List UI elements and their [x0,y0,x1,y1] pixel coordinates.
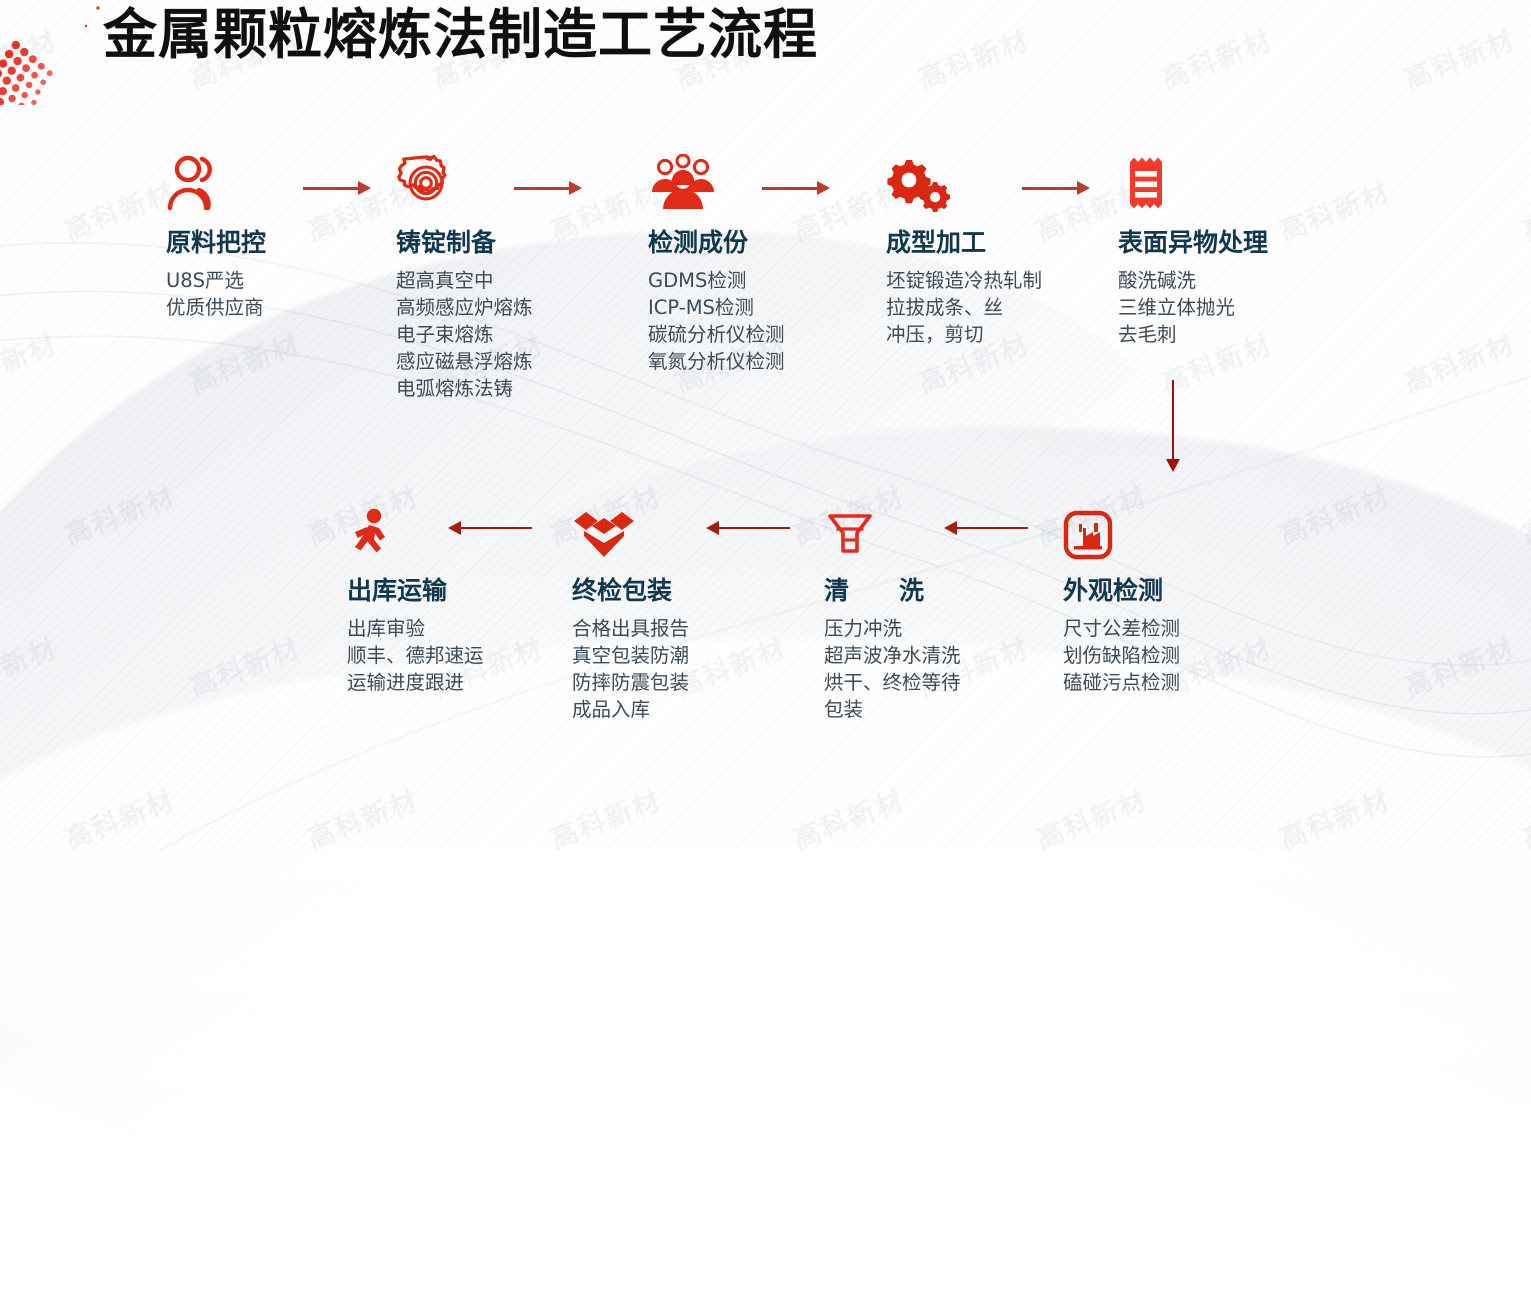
arrow-head [358,181,371,195]
step-detail-line: 防摔防震包装 [572,669,689,696]
arrow-step2-to-step3 [514,182,582,194]
step-detail-line: 出库审验 [347,615,484,642]
gear-rings-icon [396,152,533,212]
step-detail-list: 合格出具报告 真空包装防潮 防摔防震包装 成品入库 [572,615,689,723]
step-detail-line: 氧氮分析仪检测 [648,348,785,375]
step-title: 原料把控 [166,228,266,258]
arrow-head [569,181,582,195]
step-detail-line: 酸洗碱洗 [1118,267,1268,294]
step-title: 出库运输 [347,576,484,606]
flow-step-final-packaging[interactable]: 终检包装 合格出具报告 真空包装防潮 防摔防震包装 成品入库 [572,500,689,723]
step-detail-line: 烘干、终检等待包装 [824,669,974,723]
step-detail-line: 合格出具报告 [572,615,689,642]
arrow-shaft [762,187,817,190]
step-detail-line: 超声波净水清洗 [824,642,974,669]
step-title: 外观检测 [1063,576,1180,606]
step-title: 检测成份 [648,228,785,258]
step-title: 铸锭制备 [396,228,533,258]
step-detail-list: GDMS检测 ICP-MS检测 碳硫分析仪检测 氧氮分析仪检测 [648,267,785,375]
step-detail-line: ICP-MS检测 [648,294,785,321]
step-detail-line: 三维立体抛光 [1118,294,1268,321]
open-box-icon [572,500,689,560]
arrow-head [706,521,719,535]
step-detail-line: 碳硫分析仪检测 [648,321,785,348]
step-detail-line: 尺寸公差检测 [1063,615,1180,642]
arrow-step5-to-step6 [1166,380,1180,472]
step-detail-line: 冲压，剪切 [886,321,1042,348]
step-detail-line: 坯锭锻造冷热轧制 [886,267,1042,294]
step-detail-line: U8S严选 [166,267,266,294]
step-detail-line: 去毛刺 [1118,321,1268,348]
flow-step-raw-material[interactable]: 原料把控 U8S严选 优质供应商 [166,152,266,321]
receipt-icon [1118,152,1268,212]
walking-person-icon [347,500,484,560]
two-gears-icon [886,152,1042,212]
arrow-step7-to-step8 [706,522,790,534]
step-detail-line: 拉拔成条、丝 [886,294,1042,321]
step-detail-list: 压力冲洗 超声波净水清洗 烘干、终检等待包装 [824,615,974,723]
step-detail-list: 酸洗碱洗 三维立体抛光 去毛刺 [1118,267,1268,348]
arrow-shaft [1022,187,1077,190]
flow-step-outbound-transport[interactable]: 出库运输 出库审验 顺丰、德邦速运 运输进度跟进 [347,500,484,696]
arrow-head [817,181,830,195]
flow-step-appearance-inspection[interactable]: 外观检测 尺寸公差检测 划伤缺陷检测 磕碰污点检测 [1063,500,1180,696]
step-detail-line: 压力冲洗 [824,615,974,642]
step-detail-list: U8S严选 优质供应商 [166,267,266,321]
step-detail-line: GDMS检测 [648,267,785,294]
step-detail-line: 顺丰、德邦速运 [347,642,484,669]
step-title: 表面异物处理 [1118,228,1268,258]
step-detail-list: 坯锭锻造冷热轧制 拉拔成条、丝 冲压，剪切 [886,267,1042,348]
step-detail-list: 超高真空中 高频感应炉熔炼 电子束熔炼 感应磁悬浮熔炼 电弧熔炼法铸 [396,267,533,402]
step-detail-line: 电子束熔炼 [396,321,533,348]
flow-step-ingot-preparation[interactable]: 铸锭制备 超高真空中 高频感应炉熔炼 电子束熔炼 感应磁悬浮熔炼 电弧熔炼法铸 [396,152,533,402]
factory-badge-icon [1063,500,1180,560]
step-detail-line: 成品入库 [572,696,689,723]
arrow-shaft [514,187,569,190]
arrow-head [1077,181,1090,195]
arrow-step3-to-step4 [762,182,830,194]
step-detail-list: 尺寸公差检测 划伤缺陷检测 磕碰污点检测 [1063,615,1180,696]
step-detail-line: 运输进度跟进 [347,669,484,696]
arrow-shaft [719,527,790,529]
step-detail-line: 磕碰污点检测 [1063,669,1180,696]
flow-step-cleaning[interactable]: 清 洗 压力冲洗 超声波净水清洗 烘干、终检等待包装 [824,500,974,723]
arrow-step4-to-step5 [1022,182,1090,194]
funnel-icon [824,500,974,560]
step-detail-line: 真空包装防潮 [572,642,689,669]
step-detail-line: 高频感应炉熔炼 [396,294,533,321]
flow-step-forming-processing[interactable]: 成型加工 坯锭锻造冷热轧制 拉拔成条、丝 冲压，剪切 [886,152,1042,348]
step-detail-line: 优质供应商 [166,294,266,321]
arrow-head [1166,459,1180,472]
step-title: 终检包装 [572,576,689,606]
flow-step-surface-treatment[interactable]: 表面异物处理 酸洗碱洗 三维立体抛光 去毛刺 [1118,152,1268,348]
step-detail-line: 电弧熔炼法铸 [396,375,533,402]
step-detail-list: 出库审验 顺丰、德邦速运 运输进度跟进 [347,615,484,696]
arrow-step1-to-step2 [303,182,371,194]
step-title: 清 洗 [824,576,974,606]
step-detail-line: 超高真空中 [396,267,533,294]
arrow-shaft [1172,380,1174,459]
step-detail-line: 划伤缺陷检测 [1063,642,1180,669]
arrow-shaft [303,187,358,190]
step-detail-line: 感应磁悬浮熔炼 [396,348,533,375]
process-flow: 原料把控 U8S严选 优质供应商 铸锭制备 超高真空中 高频感应炉熔炼 电子束熔… [0,0,1531,850]
two-people-outline-icon [166,152,266,212]
step-title: 成型加工 [886,228,1042,258]
